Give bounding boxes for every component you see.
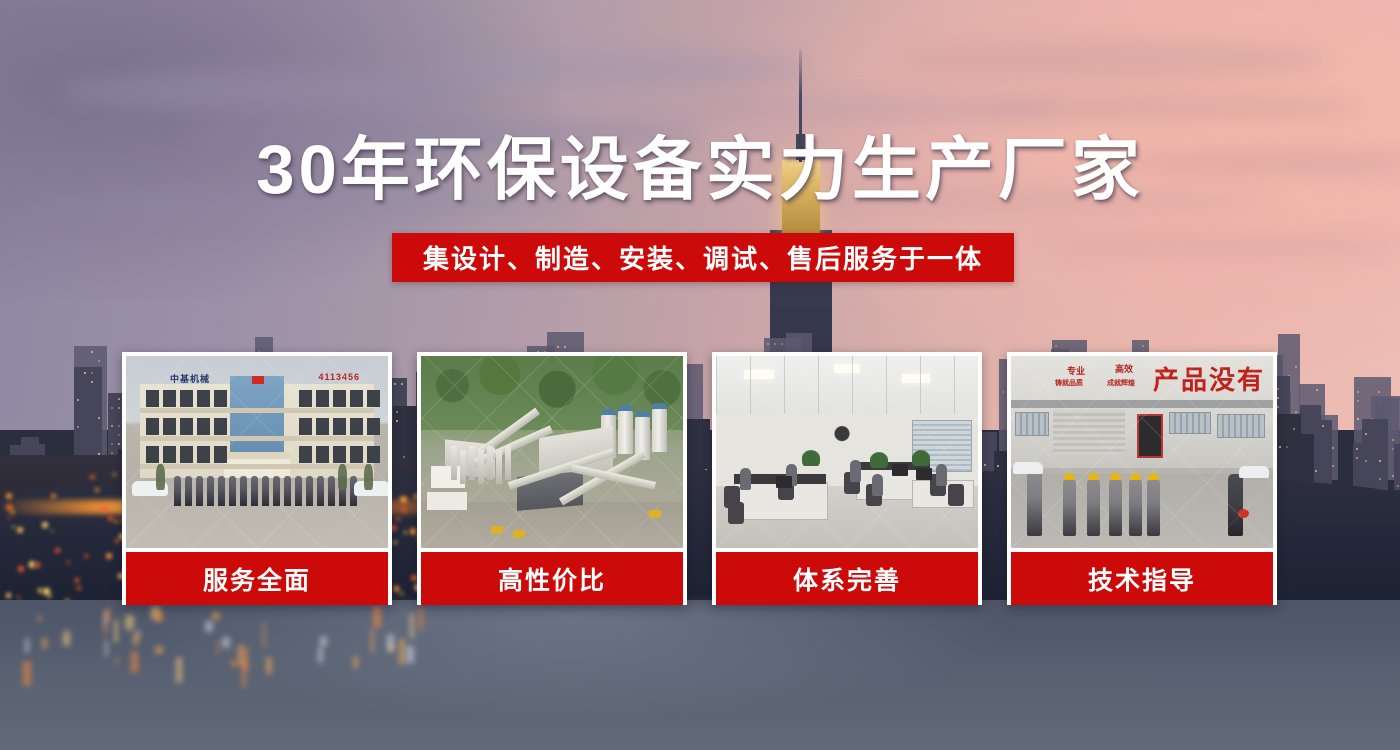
shore-light bbox=[18, 566, 24, 572]
ceiling-light bbox=[744, 370, 774, 379]
water-reflection bbox=[125, 615, 134, 630]
staff-figure bbox=[196, 476, 203, 506]
plant-silo-cap bbox=[635, 411, 650, 417]
parked-car bbox=[1239, 466, 1269, 478]
factory-sign-small-text: 成就辉煌 bbox=[1107, 378, 1135, 388]
plant-stack bbox=[460, 450, 466, 484]
water-reflection bbox=[222, 637, 229, 648]
water-reflection bbox=[231, 660, 237, 667]
building-window bbox=[197, 418, 210, 435]
building-window bbox=[163, 418, 176, 435]
plant-silo-cap bbox=[652, 403, 667, 409]
shore-light bbox=[101, 506, 107, 512]
feature-card[interactable]: 体系完善 bbox=[712, 352, 982, 605]
staff-figure bbox=[284, 476, 291, 506]
shore-light bbox=[11, 510, 14, 513]
building-floor-line bbox=[140, 436, 374, 441]
factory-window bbox=[1015, 412, 1049, 436]
shore-light bbox=[77, 586, 81, 590]
building-floor-line bbox=[140, 408, 374, 413]
plant-silo bbox=[618, 410, 633, 454]
water-reflection bbox=[320, 636, 327, 647]
shore-light bbox=[8, 516, 10, 518]
building-window bbox=[197, 446, 210, 463]
plant-stack bbox=[505, 446, 511, 480]
cloud bbox=[640, 96, 1060, 122]
ceiling-light bbox=[902, 374, 930, 383]
feature-card[interactable]: 中基机械 4113456 服务全面 bbox=[122, 352, 392, 605]
water-reflection bbox=[399, 639, 405, 664]
water-reflection bbox=[25, 638, 29, 653]
shore-light bbox=[6, 504, 12, 510]
courtyard-tree bbox=[156, 464, 165, 490]
worker-figure bbox=[1147, 478, 1160, 536]
building-window bbox=[146, 390, 159, 407]
water-reflection bbox=[419, 608, 424, 630]
factory-window bbox=[1169, 412, 1211, 434]
card-caption-bar: 高性价比 bbox=[421, 552, 683, 605]
building-window bbox=[180, 418, 193, 435]
plant-silo-cap bbox=[601, 409, 616, 415]
plant-stack bbox=[451, 446, 457, 480]
card-caption-bar: 体系完善 bbox=[716, 552, 978, 605]
shore-light bbox=[12, 526, 14, 528]
supervisor-figure bbox=[1228, 474, 1243, 536]
worker-figure bbox=[1063, 478, 1076, 536]
ceiling-grid-line bbox=[954, 356, 955, 414]
wall-decal-icon bbox=[826, 418, 858, 444]
office-chair bbox=[948, 484, 964, 506]
water-reflection bbox=[389, 644, 394, 654]
building-sign-text: 中基机械 bbox=[170, 372, 210, 385]
staff-figure bbox=[295, 476, 302, 506]
office-person bbox=[740, 468, 751, 490]
building-window bbox=[350, 418, 363, 435]
shore-light bbox=[17, 527, 23, 533]
hard-hat-icon bbox=[1064, 473, 1075, 480]
shore-light bbox=[108, 516, 113, 521]
shore-light bbox=[75, 578, 79, 582]
computer-monitor bbox=[776, 476, 792, 488]
card-caption-text: 体系完善 bbox=[793, 561, 901, 597]
card-photo-office-interior bbox=[716, 356, 978, 548]
worker-figure bbox=[1027, 470, 1042, 536]
water-reflection bbox=[155, 646, 162, 655]
water-reflection bbox=[155, 611, 163, 622]
building-window bbox=[180, 390, 193, 407]
skyline-building bbox=[1394, 444, 1400, 490]
water-reflection bbox=[266, 657, 272, 674]
factory-shutter bbox=[1053, 410, 1125, 454]
red-helmet-icon bbox=[1238, 509, 1249, 518]
subtitle-banner: 集设计、制造、安装、调试、售后服务于一体 bbox=[392, 233, 1014, 282]
building-window bbox=[299, 446, 312, 463]
office-person bbox=[936, 464, 947, 486]
staff-figure bbox=[273, 476, 280, 506]
computer-monitor bbox=[916, 468, 932, 480]
shore-light bbox=[115, 539, 119, 543]
water-reflection bbox=[42, 638, 47, 649]
cloud bbox=[60, 70, 480, 112]
building-window bbox=[214, 446, 227, 463]
water-reflection bbox=[38, 615, 41, 621]
ceiling-grid-line bbox=[920, 356, 921, 414]
factory-door bbox=[1137, 414, 1163, 458]
water-reflection bbox=[244, 647, 248, 672]
water-reflection bbox=[212, 612, 219, 619]
building-window bbox=[146, 418, 159, 435]
building-phone-text: 4113456 bbox=[318, 372, 360, 382]
shore-light bbox=[35, 562, 40, 567]
building-window bbox=[367, 446, 380, 463]
banner-stage: 30年环保设备实力生产厂家 集设计、制造、安装、调试、售后服务于一体 中基机械 … bbox=[0, 0, 1400, 750]
office-plant bbox=[912, 450, 930, 466]
water-reflection bbox=[371, 629, 374, 653]
water-reflection bbox=[116, 657, 119, 665]
water-reflection bbox=[217, 641, 219, 656]
card-photo-company-building: 中基机械 4113456 bbox=[126, 356, 388, 548]
water-reflection bbox=[105, 640, 108, 657]
hard-hat-icon bbox=[1088, 473, 1099, 480]
subtitle-text: 集设计、制造、安装、调试、售后服务于一体 bbox=[423, 239, 983, 276]
staff-figure bbox=[174, 476, 181, 506]
shore-light bbox=[6, 593, 11, 598]
water-reflection bbox=[353, 656, 358, 669]
worker-figure bbox=[1109, 478, 1122, 536]
courtyard-tree bbox=[338, 464, 347, 490]
ceiling-grid-line bbox=[784, 356, 785, 414]
plant-excavator bbox=[649, 510, 661, 518]
staff-figure bbox=[185, 476, 192, 506]
office-person bbox=[872, 474, 883, 496]
plant-stack bbox=[496, 450, 502, 484]
feature-card[interactable]: 高性价比 bbox=[417, 352, 687, 605]
plant-silo bbox=[652, 408, 667, 452]
building-window bbox=[333, 446, 346, 463]
building-window bbox=[214, 390, 227, 407]
plant-stack bbox=[469, 446, 475, 480]
cloud bbox=[900, 40, 1330, 80]
building-window bbox=[197, 390, 210, 407]
card-photo-worker-training: 产品没有 专业 高效 铸就品质 成就辉煌 bbox=[1011, 356, 1273, 548]
staff-figure bbox=[218, 476, 225, 506]
ceiling-grid-line bbox=[716, 356, 717, 414]
office-plant bbox=[802, 450, 820, 466]
water-reflection bbox=[23, 661, 32, 686]
flag-icon bbox=[252, 376, 264, 384]
computer-monitor bbox=[892, 464, 908, 476]
shore-light bbox=[55, 548, 60, 553]
card-caption-text: 服务全面 bbox=[203, 561, 311, 597]
building-window bbox=[180, 446, 193, 463]
factory-sign-small-text: 专业 bbox=[1067, 364, 1085, 377]
courtyard-tree bbox=[364, 464, 373, 490]
page-title: 30年环保设备实力生产厂家 bbox=[0, 132, 1400, 208]
water-reflection bbox=[63, 631, 71, 646]
plant-stack bbox=[487, 446, 493, 480]
hard-hat-icon bbox=[1148, 473, 1159, 480]
staff-figure bbox=[262, 476, 269, 506]
water-reflection bbox=[318, 647, 324, 663]
water-reflection bbox=[205, 621, 213, 632]
building-window bbox=[316, 390, 329, 407]
ceiling-grid-line bbox=[886, 356, 887, 414]
building-window bbox=[146, 446, 159, 463]
building-window bbox=[367, 418, 380, 435]
building-window bbox=[333, 390, 346, 407]
water-reflection bbox=[114, 619, 118, 643]
building-window bbox=[316, 418, 329, 435]
staff-figure bbox=[240, 476, 247, 506]
building-window bbox=[299, 418, 312, 435]
ceiling-grid-line bbox=[852, 356, 853, 414]
building-window bbox=[316, 446, 329, 463]
plant-excavator bbox=[491, 526, 503, 534]
water-reflection bbox=[410, 613, 414, 639]
office-plant bbox=[870, 452, 888, 468]
plant-stack bbox=[478, 450, 484, 484]
cloud bbox=[430, 52, 810, 86]
water-reflection bbox=[263, 623, 265, 647]
water-reflection bbox=[373, 606, 381, 628]
worker-figure bbox=[1087, 478, 1100, 536]
feature-card[interactable]: 产品没有 专业 高效 铸就品质 成就辉煌 技术指导 bbox=[1007, 352, 1277, 605]
factory-sign-small-text: 铸就品质 bbox=[1055, 378, 1083, 388]
shore-light bbox=[106, 553, 112, 559]
building-window bbox=[214, 418, 227, 435]
shore-light bbox=[38, 588, 42, 592]
building-window bbox=[333, 418, 346, 435]
water-sheen bbox=[120, 604, 1020, 724]
hard-hat-icon bbox=[1130, 473, 1141, 480]
staff-figure bbox=[306, 476, 313, 506]
plant-office bbox=[427, 492, 467, 510]
ceiling-grid-line bbox=[818, 356, 819, 414]
water-reflection bbox=[238, 645, 244, 666]
building-window bbox=[350, 446, 363, 463]
ceiling-grid-line bbox=[750, 356, 751, 414]
card-caption-text: 技术指导 bbox=[1088, 561, 1196, 597]
staff-figure bbox=[328, 476, 335, 506]
shore-light bbox=[6, 493, 12, 499]
skyline-building bbox=[1362, 419, 1388, 490]
building-window bbox=[367, 390, 380, 407]
hard-hat-icon bbox=[1110, 473, 1121, 480]
water-reflection bbox=[138, 629, 140, 638]
shore-light bbox=[48, 594, 51, 597]
water-reflection bbox=[104, 612, 107, 627]
staff-figure bbox=[207, 476, 214, 506]
plant-excavator bbox=[513, 530, 525, 538]
factory-window bbox=[1217, 414, 1265, 438]
parked-car bbox=[1013, 462, 1043, 474]
office-chair bbox=[728, 502, 744, 524]
card-caption-bar: 服务全面 bbox=[126, 552, 388, 605]
building-window bbox=[350, 390, 363, 407]
card-photo-industrial-plant bbox=[421, 356, 683, 548]
building-window bbox=[299, 390, 312, 407]
water-reflection bbox=[131, 651, 138, 673]
shore-light bbox=[85, 554, 88, 557]
staff-figure bbox=[317, 476, 324, 506]
building-window bbox=[163, 446, 176, 463]
factory-wall-band bbox=[1011, 400, 1273, 408]
office-person bbox=[850, 460, 861, 482]
factory-sign-small-text: 高效 bbox=[1115, 362, 1133, 375]
staff-figure bbox=[251, 476, 258, 506]
factory-sign-text: 产品没有 bbox=[1153, 360, 1265, 397]
building-window bbox=[163, 390, 176, 407]
water-reflection bbox=[406, 646, 415, 663]
staff-figure bbox=[229, 476, 236, 506]
feature-card-row: 中基机械 4113456 服务全面 高性价比 bbox=[122, 352, 1279, 605]
card-caption-bar: 技术指导 bbox=[1011, 552, 1273, 605]
water-reflection bbox=[176, 657, 182, 682]
plant-silo-cap bbox=[618, 405, 633, 411]
card-caption-text: 高性价比 bbox=[498, 561, 606, 597]
worker-figure bbox=[1129, 478, 1142, 536]
ceiling-light bbox=[834, 364, 860, 373]
